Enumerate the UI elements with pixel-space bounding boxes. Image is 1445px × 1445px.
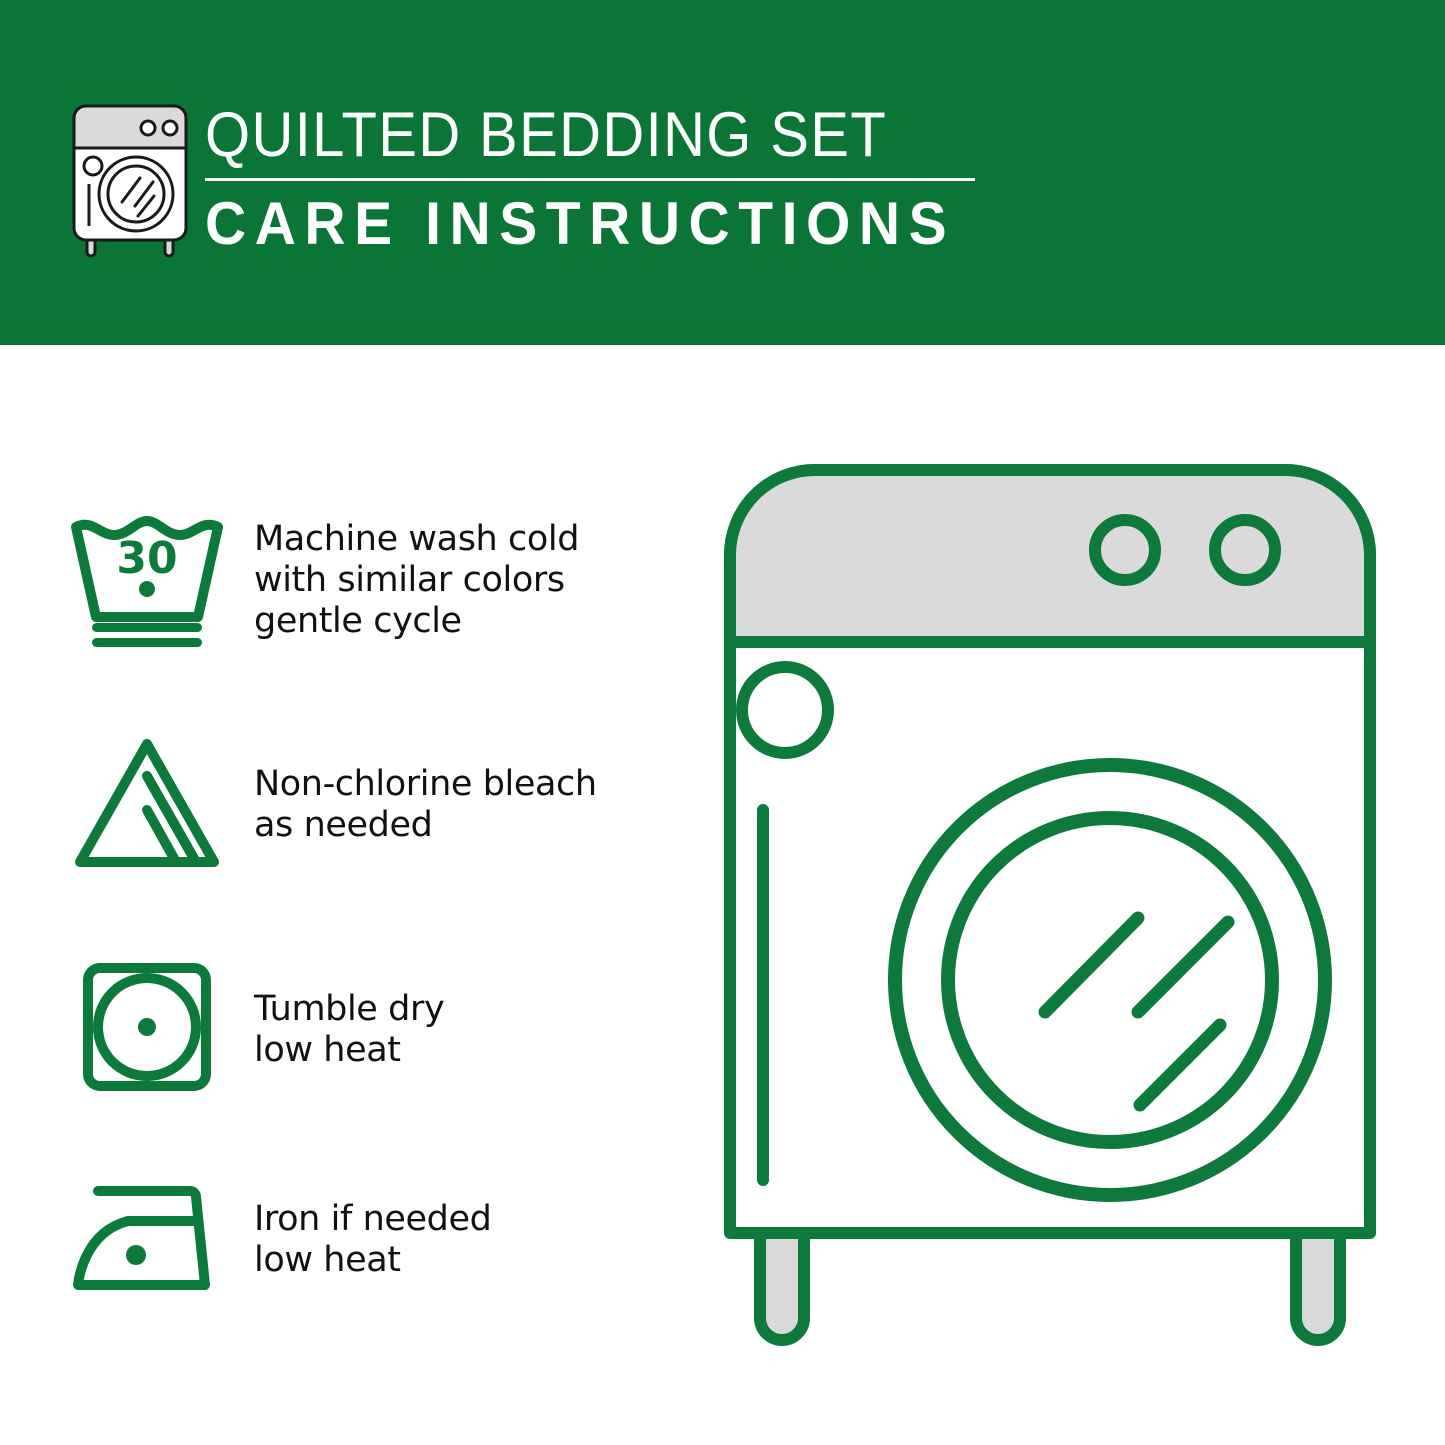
washer-door-inner-ring: [948, 818, 1272, 1142]
care-label-iron: Iron if needed low heat: [254, 1199, 491, 1281]
washer-indicator-light: [742, 667, 828, 753]
header-band: QUILTED BEDDING SET CARE INSTRUCTIONS: [0, 0, 1445, 345]
title-divider: [205, 178, 975, 181]
care-label-bleach: Non-chlorine bleach as needed: [254, 764, 597, 846]
care-label-line: low heat: [254, 1030, 444, 1071]
washer-leg-right: [1296, 1230, 1340, 1340]
care-label-machine-wash: Machine wash cold with similar colors ge…: [254, 519, 579, 642]
iron-low-heat-icon: [62, 1158, 232, 1323]
care-label-line: low heat: [254, 1240, 491, 1281]
care-label-line: Tumble dry: [254, 989, 444, 1030]
care-row-bleach: Non-chlorine bleach as needed: [0, 710, 700, 900]
care-instructions-list: 30 Machine wash cold with similar colors…: [0, 345, 700, 1445]
care-label-line: gentle cycle: [254, 601, 579, 642]
care-label-line: Machine wash cold: [254, 519, 579, 560]
wash-tub-30-icon: 30: [62, 498, 232, 663]
header-text-block: QUILTED BEDDING SET CARE INSTRUCTIONS: [205, 100, 1005, 257]
non-chlorine-bleach-triangle-icon: [62, 723, 232, 888]
care-label-line: Non-chlorine bleach: [254, 764, 597, 805]
washer-knob-right: [1215, 520, 1275, 580]
care-label-line: as needed: [254, 805, 597, 846]
care-label-line: with similar colors: [254, 560, 579, 601]
page-title: QUILTED BEDDING SET: [205, 100, 941, 170]
washing-machine-icon: [60, 98, 200, 258]
care-row-machine-wash: 30 Machine wash cold with similar colors…: [0, 485, 700, 675]
tumble-dry-low-icon: [62, 948, 232, 1113]
front-load-washing-machine-illustration: [700, 440, 1445, 1380]
washer-knob-left: [1095, 520, 1155, 580]
care-row-iron: Iron if needed low heat: [0, 1145, 700, 1335]
care-label-line: Iron if needed: [254, 1199, 491, 1240]
care-instructions-page: QUILTED BEDDING SET CARE INSTRUCTIONS 30…: [0, 0, 1445, 1445]
washer-leg-left: [760, 1230, 804, 1340]
care-row-tumble-dry: Tumble dry low heat: [0, 935, 700, 1125]
page-subtitle: CARE INSTRUCTIONS: [205, 191, 965, 257]
care-label-tumble-dry: Tumble dry low heat: [254, 989, 444, 1071]
wash-temperature-value: 30: [116, 533, 177, 584]
